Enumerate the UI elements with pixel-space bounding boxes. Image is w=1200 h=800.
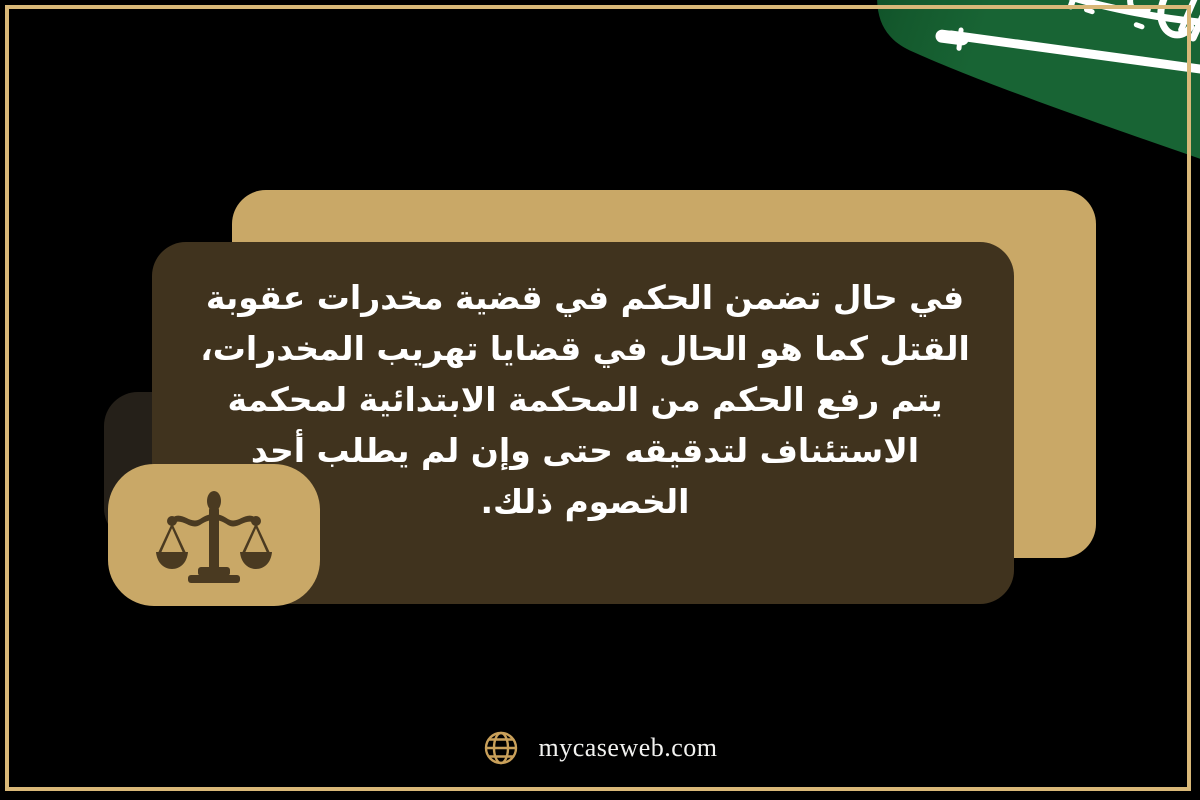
saudi-arabia-flag: [820, 0, 1200, 187]
quote-text: في حال تضمن الحكم في قضية مخدرات عقوبة ا…: [200, 272, 970, 527]
poster-canvas: في حال تضمن الحكم في قضية مخدرات عقوبة ا…: [0, 0, 1200, 800]
site-footer: mycaseweb.com: [0, 718, 1200, 778]
site-name[interactable]: mycaseweb.com: [538, 733, 717, 763]
globe-icon: [482, 729, 520, 767]
